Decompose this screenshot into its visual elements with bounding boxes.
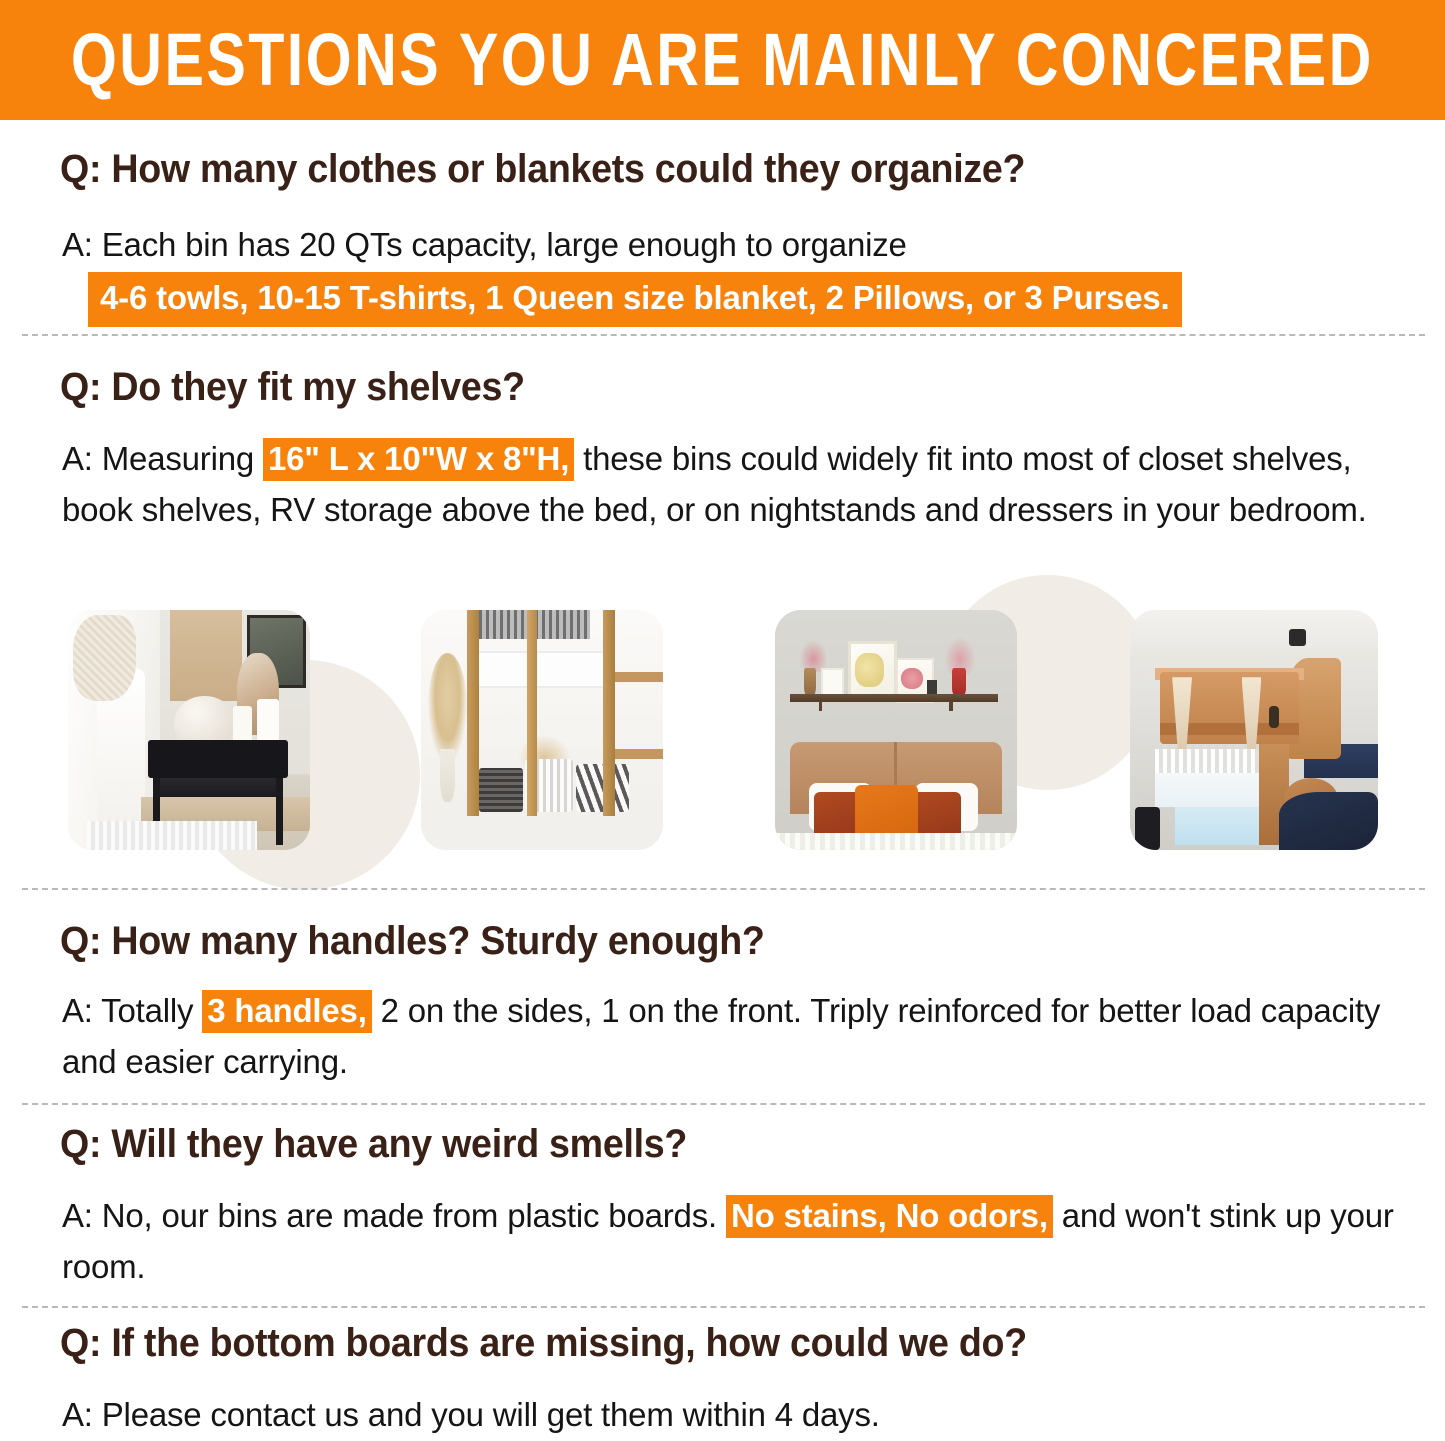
wooden-shelf-baskets-photo <box>421 610 663 850</box>
faq-answer-5: A: Please contact us and you will get th… <box>62 1390 880 1441</box>
bedroom-nightstand-photo <box>68 610 310 850</box>
rv-overhead-storage-photo <box>1130 610 1378 850</box>
faq-question-5: Q: If the bottom boards are missing, how… <box>60 1322 1027 1364</box>
faq-divider-1 <box>22 334 1425 336</box>
faq-question-3: Q: How many handles? Sturdy enough? <box>60 920 765 962</box>
faq-divider-4 <box>22 1306 1425 1308</box>
faq-divider-3 <box>22 1103 1425 1105</box>
faq-answer-3: A: Totally 3 handles, 2 on the sides, 1 … <box>62 986 1407 1088</box>
faq-question-2: Q: Do they fit my shelves? <box>60 366 525 408</box>
faq-answer-2-pre: A: Measuring <box>62 440 263 477</box>
faq-answer-1-line1: A: Each bin has 20 QTs capacity, large e… <box>62 220 907 271</box>
faq-answer-2: A: Measuring 16" L x 10"W x 8"H, these b… <box>62 434 1422 536</box>
page-title: QUESTIONS YOU ARE MAINLY CONCERED <box>71 23 1374 97</box>
page-header-banner: QUESTIONS YOU ARE MAINLY CONCERED <box>0 0 1445 120</box>
faq-answer-4: A: No, our bins are made from plastic bo… <box>62 1191 1422 1293</box>
faq-answer-4-highlight: No stains, No odors, <box>726 1195 1053 1238</box>
faq-answer-1-highlight: 4-6 towls, 10-15 T-shirts, 1 Queen size … <box>88 272 1182 327</box>
faq-answer-3-highlight: 3 handles, <box>202 990 371 1033</box>
photo-gallery <box>0 610 1445 910</box>
bed-wall-shelf-photo <box>775 610 1017 850</box>
faq-answer-2-highlight: 16" L x 10"W x 8"H, <box>263 438 574 481</box>
faq-answer-3-pre: A: Totally <box>62 992 202 1029</box>
faq-question-4: Q: Will they have any weird smells? <box>60 1123 687 1165</box>
faq-answer-4-pre: A: No, our bins are made from plastic bo… <box>62 1197 726 1234</box>
faq-question-1: Q: How many clothes or blankets could th… <box>60 148 1025 190</box>
